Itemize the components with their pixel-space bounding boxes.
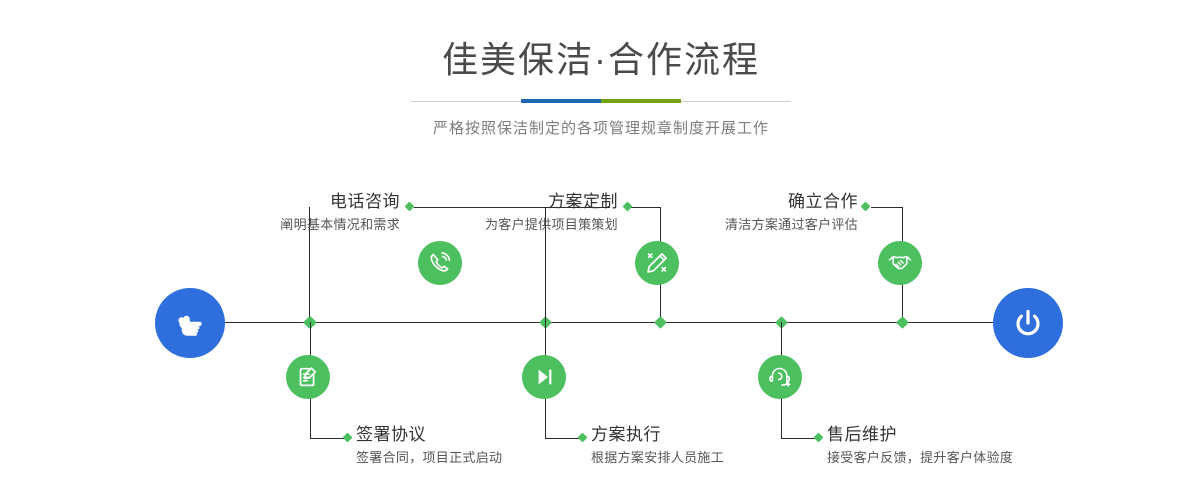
step-node-4[interactable] xyxy=(522,355,566,399)
label-bullet-step-2 xyxy=(343,433,353,443)
phone-call-icon xyxy=(427,250,453,276)
page-subtitle: 严格按照保洁制定的各项管理规章制度开展工作 xyxy=(0,108,1202,140)
step-label-2: 签署协议 签署合同，项目正式启动 xyxy=(356,423,616,469)
title-divider xyxy=(411,96,791,108)
axis-marker-step-5b xyxy=(896,316,909,329)
page-header: 佳美保洁·合作流程 严格按照保洁制定的各项管理规章制度开展工作 xyxy=(0,0,1202,140)
connector-horizontal-step-6 xyxy=(781,438,818,439)
timeline-start-node[interactable] xyxy=(155,288,225,358)
step-label-6: 售后维护 接受客户反馈，提升客户体验度 xyxy=(827,423,1107,469)
divider-blue-segment xyxy=(521,99,601,103)
connector-horizontal-step-2 xyxy=(310,438,347,439)
flow-diagram-page: 佳美保洁·合作流程 严格按照保洁制定的各项管理规章制度开展工作 xyxy=(0,0,1202,502)
axis-marker-step-3b xyxy=(654,316,667,329)
step-title-6: 售后维护 xyxy=(827,423,1107,447)
step-desc-4: 根据方案安排人员施工 xyxy=(591,447,851,469)
step-title-3: 方案定制 xyxy=(380,190,618,214)
label-bullet-step-5 xyxy=(861,202,871,212)
step-label-1: 电话咨询 阐明基本情况和需求 xyxy=(160,190,400,236)
step-title-1: 电话咨询 xyxy=(160,190,400,214)
step-node-2[interactable] xyxy=(286,355,330,399)
step-desc-5: 清洁方案通过客户评估 xyxy=(620,214,858,236)
step-title-5: 确立合作 xyxy=(620,190,858,214)
step-title-4: 方案执行 xyxy=(591,423,851,447)
timeline-end-node[interactable] xyxy=(993,288,1063,358)
divider-green-segment xyxy=(601,99,681,103)
step-desc-3: 为客户提供项目策策划 xyxy=(380,214,618,236)
step-title-2: 签署协议 xyxy=(356,423,616,447)
step-desc-6: 接受客户反馈，提升客户体验度 xyxy=(827,447,1107,469)
handshake-icon xyxy=(887,250,913,276)
step-label-3: 方案定制 为客户提供项目策策划 xyxy=(380,190,618,236)
play-skip-icon xyxy=(531,364,557,390)
connector-horizontal-step-5 xyxy=(871,207,903,208)
step-label-4: 方案执行 根据方案安排人员施工 xyxy=(591,423,851,469)
step-node-3[interactable] xyxy=(635,241,679,285)
pointing-hand-icon xyxy=(170,303,210,343)
headset-support-icon xyxy=(767,364,793,390)
page-title: 佳美保洁·合作流程 xyxy=(0,0,1202,82)
document-edit-icon xyxy=(295,364,321,390)
step-desc-2: 签署合同，项目正式启动 xyxy=(356,447,616,469)
step-node-1[interactable] xyxy=(418,241,462,285)
step-node-5[interactable] xyxy=(878,241,922,285)
pencil-ruler-icon xyxy=(644,250,670,276)
step-node-6[interactable] xyxy=(758,355,802,399)
connector-horizontal-step-4 xyxy=(545,438,582,439)
power-icon xyxy=(1008,303,1048,343)
step-desc-1: 阐明基本情况和需求 xyxy=(160,214,400,236)
step-label-5: 确立合作 清洁方案通过客户评估 xyxy=(620,190,858,236)
